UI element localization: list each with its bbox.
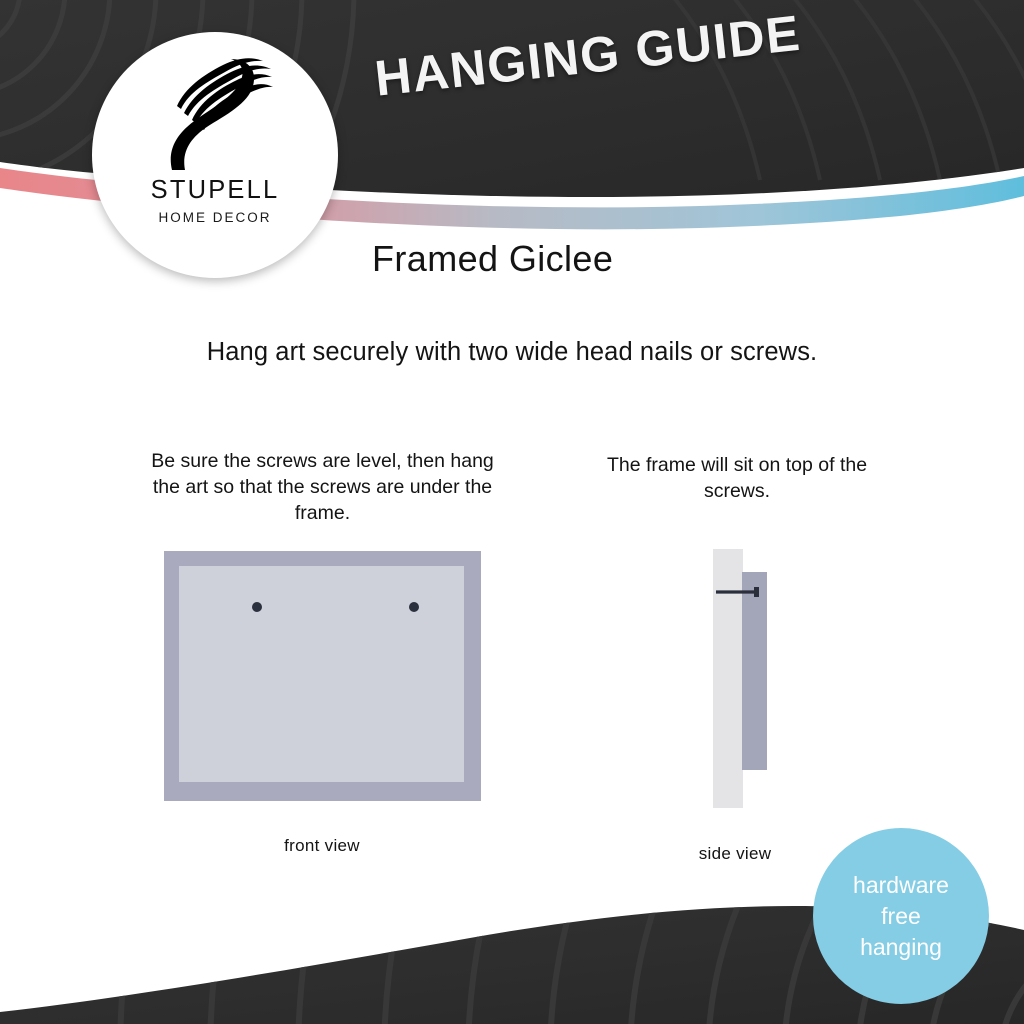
front-view-caption: Be sure the screws are level, then hang … (150, 448, 495, 526)
front-view-art-area (179, 566, 464, 782)
hardware-free-hanging-badge: hardware free hanging (813, 828, 989, 1004)
product-type-label: Framed Giclee (372, 238, 613, 280)
screw-dot-right-icon (409, 602, 419, 612)
side-view-caption: The frame will sit on top of the screws. (592, 452, 882, 504)
brand-name: STUPELL (151, 178, 280, 204)
hanging-guide-page: STUPELL HOME DECOR HANGING GUIDE Framed … (0, 0, 1024, 1024)
page-title: HANGING GUIDE (372, 0, 875, 108)
side-view-label: side view (620, 844, 850, 864)
badge-line-2: free (881, 901, 921, 932)
lead-instruction: Hang art securely with two wide head nai… (0, 338, 1024, 367)
front-view-label: front view (182, 836, 462, 856)
brand-logo-badge: STUPELL HOME DECOR (92, 32, 338, 278)
screw-dot-left-icon (252, 602, 262, 612)
screw-side-icon (715, 586, 765, 598)
side-view-diagram (705, 545, 815, 815)
side-view-frame-panel (742, 572, 767, 770)
brand-tagline: HOME DECOR (158, 211, 271, 225)
stupell-swirl-icon (155, 54, 275, 176)
badge-line-3: hanging (860, 932, 942, 963)
front-view-diagram (164, 551, 481, 801)
badge-line-1: hardware (853, 870, 949, 901)
